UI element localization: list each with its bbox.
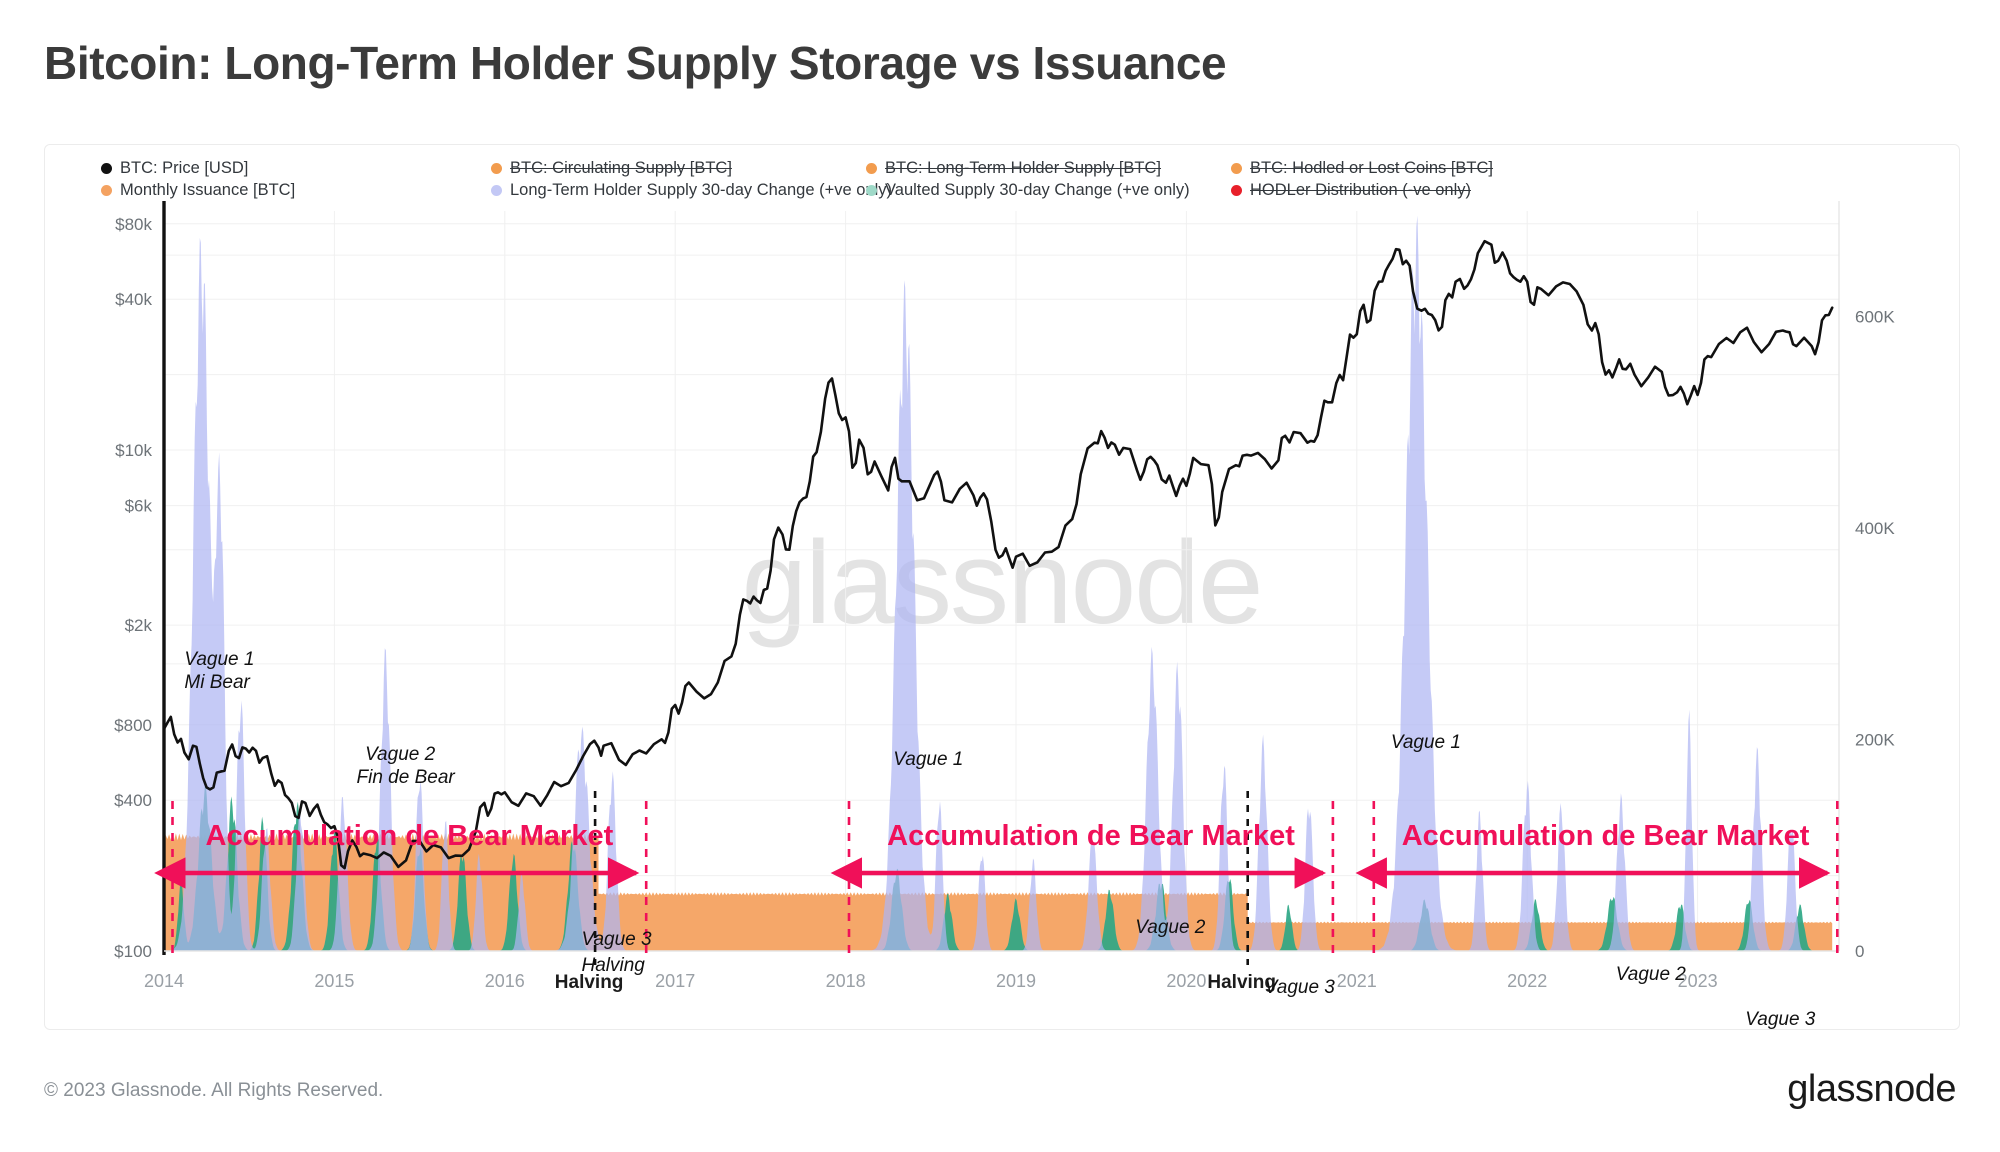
y-axis-left-tick-label: $40k bbox=[115, 290, 152, 309]
annotation-vague-1-2021: Vague 1 bbox=[1391, 732, 1461, 753]
chart-card: BTC: Price [USD]BTC: Circulating Supply … bbox=[44, 144, 1960, 1030]
page-title: Bitcoin: Long-Term Holder Supply Storage… bbox=[44, 36, 1226, 90]
x-axis-tick-label: 2016 bbox=[485, 971, 525, 991]
x-axis-tick-label: 2015 bbox=[314, 971, 354, 991]
x-axis-tick-label: 2014 bbox=[144, 971, 184, 991]
watermark-glassnode: glassnode bbox=[742, 517, 1262, 649]
x-axis-tick-label: 2020 bbox=[1166, 971, 1206, 991]
annotation-vague-1-mi-bear-line2: Mi Bear bbox=[184, 672, 250, 693]
y-axis-left-tick-label: $6k bbox=[125, 497, 153, 516]
chart-page: Bitcoin: Long-Term Holder Supply Storage… bbox=[0, 0, 2000, 1152]
annotation-vague-2-2022: Vague 2 bbox=[1616, 964, 1687, 985]
annotation-vague-3-2020: Vague 3 bbox=[1265, 977, 1336, 998]
annotation-vague-3-halving-line1: Vague 3 bbox=[582, 929, 653, 950]
y-axis-right-tick-label: 400K bbox=[1855, 519, 1895, 538]
plot-area: glassnode$80k$40k$10k$6k$2k$800$400$1000… bbox=[45, 145, 1961, 1031]
y-axis-right-tick-label: 0 bbox=[1855, 942, 1864, 961]
y-axis-left-tick-label: $10k bbox=[115, 441, 152, 460]
annotation-vague-2-2019: Vague 2 bbox=[1135, 917, 1206, 938]
glassnode-logo: glassnode bbox=[1787, 1068, 1956, 1111]
accumulation-band-label: Accumulation de Bear Market bbox=[887, 820, 1295, 852]
x-axis-tick-label: 2017 bbox=[655, 971, 695, 991]
x-axis-tick-label: 2019 bbox=[996, 971, 1036, 991]
x-axis-tick-label: 2021 bbox=[1337, 971, 1377, 991]
x-axis-tick-label: 2018 bbox=[826, 971, 866, 991]
y-axis-left-tick-label: $80k bbox=[115, 215, 152, 234]
y-axis-left-tick-label: $400 bbox=[114, 791, 152, 810]
chart-svg: glassnode$80k$40k$10k$6k$2k$800$400$1000… bbox=[45, 145, 1961, 1031]
annotation-vague-2-fin-de-bear-line2: Fin de Bear bbox=[357, 767, 456, 788]
annotation-vague-3-2023: Vague 3 bbox=[1745, 1009, 1816, 1030]
y-axis-left-tick-label: $100 bbox=[114, 942, 152, 961]
x-axis-tick-label: 2022 bbox=[1507, 971, 1547, 991]
footer-copyright: © 2023 Glassnode. All Rights Reserved. bbox=[44, 1080, 383, 1102]
accumulation-band-label: Accumulation de Bear Market bbox=[1402, 820, 1810, 852]
annotation-vague-3-halving-line2: Halving bbox=[582, 955, 646, 976]
annotation-vague-1-2018: Vague 1 bbox=[893, 749, 963, 770]
y-axis-right-tick-label: 200K bbox=[1855, 731, 1895, 750]
accumulation-band-label: Accumulation de Bear Market bbox=[206, 820, 614, 852]
y-axis-left-tick-label: $800 bbox=[114, 716, 152, 735]
y-axis-left-tick-label: $2k bbox=[125, 616, 153, 635]
annotation-vague-2-fin-de-bear-line1: Vague 2 bbox=[365, 744, 436, 765]
annotation-vague-1-mi-bear-line1: Vague 1 bbox=[184, 649, 254, 670]
y-axis-right-tick-label: 600K bbox=[1855, 308, 1895, 327]
